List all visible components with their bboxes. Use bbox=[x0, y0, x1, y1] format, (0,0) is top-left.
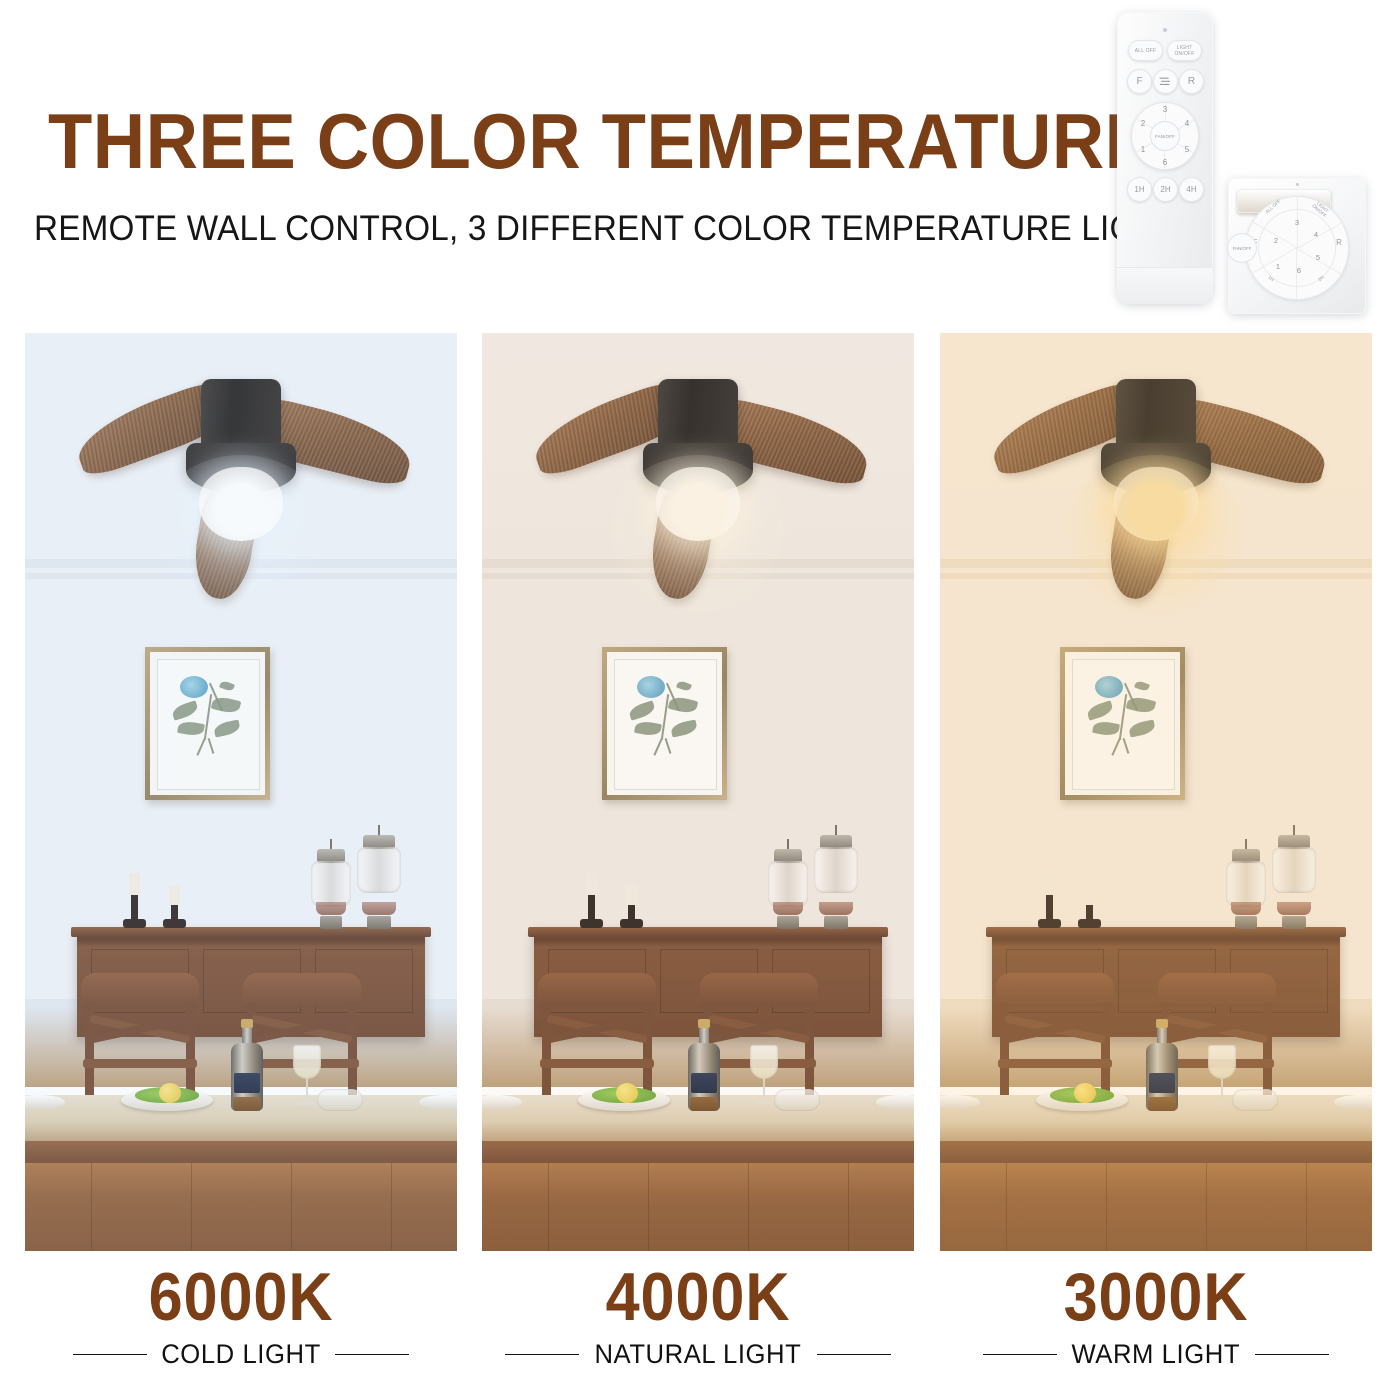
dining-chair-left bbox=[81, 973, 199, 1101]
glass-jar-left bbox=[311, 839, 351, 929]
wall-control-dial[interactable]: ALL OFF LIGHT ON/OFF F R 1H 2H 3 4 5 6 1… bbox=[1245, 196, 1349, 300]
battery-cover bbox=[1117, 267, 1213, 304]
wall-control-panel[interactable]: ALL OFF LIGHT ON/OFF F R 1H 2H 3 4 5 6 1… bbox=[1228, 178, 1366, 314]
caption-3000k: 3000K WARM LIGHT bbox=[940, 1262, 1372, 1370]
framed-artwork bbox=[1060, 647, 1185, 800]
liquor-bottle bbox=[688, 1019, 720, 1111]
ceiling-fan bbox=[548, 367, 848, 582]
panel-6000k bbox=[25, 333, 457, 1251]
light-name: COLD LIGHT bbox=[161, 1339, 321, 1370]
remote-speed-6[interactable]: 6 bbox=[1160, 158, 1170, 167]
room-scene bbox=[25, 333, 457, 1251]
fan-motor-housing bbox=[1116, 379, 1196, 453]
remote-speed-3[interactable]: 3 bbox=[1160, 105, 1170, 114]
wall-speed-4[interactable]: 4 bbox=[1311, 230, 1321, 239]
kelvin-value: 4000K bbox=[504, 1262, 893, 1332]
comparison-panels bbox=[0, 333, 1400, 1251]
led-light-dome bbox=[656, 467, 740, 541]
light-name: WARM LIGHT bbox=[1072, 1339, 1241, 1370]
wall-speed-6[interactable]: 6 bbox=[1294, 266, 1304, 275]
page-subtitle: REMOTE WALL CONTROL, 3 DIFFERENT COLOR T… bbox=[34, 208, 1070, 250]
glass-jar-left bbox=[1226, 839, 1266, 929]
remote-timer-2h-button[interactable]: 2H bbox=[1153, 177, 1178, 202]
light-name-row: WARM LIGHT bbox=[940, 1339, 1372, 1370]
ceiling-fan bbox=[1006, 367, 1306, 582]
divider-right bbox=[817, 1354, 891, 1356]
light-name-row: NATURAL LIGHT bbox=[482, 1339, 914, 1370]
caption-6000k: 6000K COLD LIGHT bbox=[25, 1262, 457, 1370]
candle-wax-short bbox=[626, 885, 637, 905]
wall-speed-3[interactable]: 3 bbox=[1292, 218, 1302, 227]
dining-chair-left bbox=[996, 973, 1114, 1101]
divider-right bbox=[335, 1354, 409, 1356]
wall-reverse-button[interactable]: R bbox=[1326, 240, 1352, 245]
glass-jar-left bbox=[768, 839, 808, 929]
remote-timer-1h-button[interactable]: 1H bbox=[1127, 177, 1152, 202]
candle-wax-tall bbox=[129, 873, 140, 895]
panel-captions: 6000K COLD LIGHT 4000K NATURAL LIGHT 300… bbox=[0, 1262, 1400, 1392]
light-name-row: COLD LIGHT bbox=[25, 1339, 457, 1370]
dining-table-front bbox=[482, 1163, 914, 1251]
dining-table-edge bbox=[25, 1141, 457, 1165]
dining-table-edge bbox=[482, 1141, 914, 1165]
candlestick-short-base bbox=[620, 919, 643, 928]
liquor-bottle bbox=[231, 1019, 263, 1111]
product-infographic: THREE COLOR TEMPERATURES REMOTE WALL CON… bbox=[0, 0, 1400, 1400]
lemon bbox=[616, 1083, 638, 1103]
remote-speed-5[interactable]: 5 bbox=[1182, 145, 1192, 154]
fan-speed-icon[interactable] bbox=[1153, 69, 1178, 94]
caption-4000k: 4000K NATURAL LIGHT bbox=[482, 1262, 914, 1370]
led-light-dome bbox=[1114, 467, 1198, 541]
divider-left bbox=[505, 1354, 579, 1356]
candle-wax-tall bbox=[1044, 873, 1055, 895]
remote-speed-dial[interactable]: 3 4 5 6 1 2 FAN/OFF bbox=[1131, 102, 1199, 170]
remote-timer-4h-button[interactable]: 4H bbox=[1179, 177, 1204, 202]
remote-speed-2[interactable]: 2 bbox=[1138, 119, 1148, 128]
blue-rose-icon bbox=[180, 676, 208, 698]
kelvin-value: 3000K bbox=[962, 1262, 1351, 1332]
remote-all-off-button[interactable]: ALL OFF bbox=[1128, 40, 1163, 61]
dining-table-front bbox=[940, 1163, 1372, 1251]
candlestick-tall-base bbox=[123, 919, 146, 928]
botanical-print bbox=[157, 659, 260, 790]
fan-motor-housing bbox=[201, 379, 281, 453]
remote-light-on-off-button[interactable]: LIGHT ON/OFF bbox=[1167, 40, 1202, 61]
indicator-led-icon bbox=[1296, 183, 1299, 186]
page-title: THREE COLOR TEMPERATURES bbox=[48, 100, 1034, 182]
wall-speed-2[interactable]: 2 bbox=[1271, 236, 1281, 245]
wall-speed-5[interactable]: 5 bbox=[1313, 253, 1323, 262]
art-mat bbox=[607, 652, 722, 795]
candle-wax-short bbox=[169, 885, 180, 905]
candlestick-tall-base bbox=[1038, 919, 1061, 928]
wine-glass-laid bbox=[1232, 1089, 1278, 1111]
blue-rose-icon bbox=[637, 676, 665, 698]
dining-table-edge bbox=[940, 1141, 1372, 1165]
remote-speed-4[interactable]: 4 bbox=[1182, 119, 1192, 128]
ceiling-fan bbox=[91, 367, 391, 582]
candlestick-short-base bbox=[1078, 919, 1101, 928]
candlestick-tall-base bbox=[580, 919, 603, 928]
blue-rose-icon bbox=[1095, 676, 1123, 698]
candle-wax-short bbox=[1084, 885, 1095, 905]
art-mat bbox=[150, 652, 265, 795]
candlestick-short-base bbox=[163, 919, 186, 928]
framed-artwork bbox=[145, 647, 270, 800]
light-name: NATURAL LIGHT bbox=[595, 1339, 802, 1370]
dining-table-front bbox=[25, 1163, 457, 1251]
room-scene bbox=[482, 333, 914, 1251]
led-light-dome bbox=[199, 467, 283, 541]
wall-fan-off-button[interactable]: FAN/OFF bbox=[1227, 233, 1257, 263]
lemon bbox=[159, 1083, 181, 1103]
wine-glass-laid bbox=[317, 1089, 363, 1111]
panel-3000k bbox=[940, 333, 1372, 1251]
divider-right bbox=[1255, 1354, 1329, 1356]
glass-jar-right bbox=[1272, 825, 1316, 929]
glass-jar-right bbox=[357, 825, 401, 929]
remote-speed-1[interactable]: 1 bbox=[1138, 145, 1148, 154]
divider-left bbox=[983, 1354, 1057, 1356]
art-mat bbox=[1065, 652, 1180, 795]
divider-left bbox=[73, 1354, 147, 1356]
room-scene bbox=[940, 333, 1372, 1251]
ir-emitter-icon bbox=[1163, 28, 1167, 32]
remote-fan-off-button[interactable]: FAN/OFF bbox=[1150, 121, 1180, 151]
glass-jar-right bbox=[814, 825, 858, 929]
candle-wax-tall bbox=[586, 873, 597, 895]
remote-forward-button[interactable]: F bbox=[1127, 69, 1152, 94]
remote-reverse-button[interactable]: R bbox=[1179, 69, 1204, 94]
handheld-remote[interactable]: ALL OFF LIGHT ON/OFF F R 3 4 5 6 1 2 FAN… bbox=[1117, 12, 1213, 304]
framed-artwork bbox=[602, 647, 727, 800]
wine-glass-laid bbox=[774, 1089, 820, 1111]
wall-speed-1[interactable]: 1 bbox=[1273, 262, 1283, 271]
fan-motor-housing bbox=[658, 379, 738, 453]
dining-chair-left bbox=[538, 973, 656, 1101]
botanical-print bbox=[1072, 659, 1175, 790]
lemon bbox=[1074, 1083, 1096, 1103]
panel-4000k bbox=[482, 333, 914, 1251]
liquor-bottle bbox=[1146, 1019, 1178, 1111]
kelvin-value: 6000K bbox=[47, 1262, 436, 1332]
botanical-print bbox=[614, 659, 717, 790]
